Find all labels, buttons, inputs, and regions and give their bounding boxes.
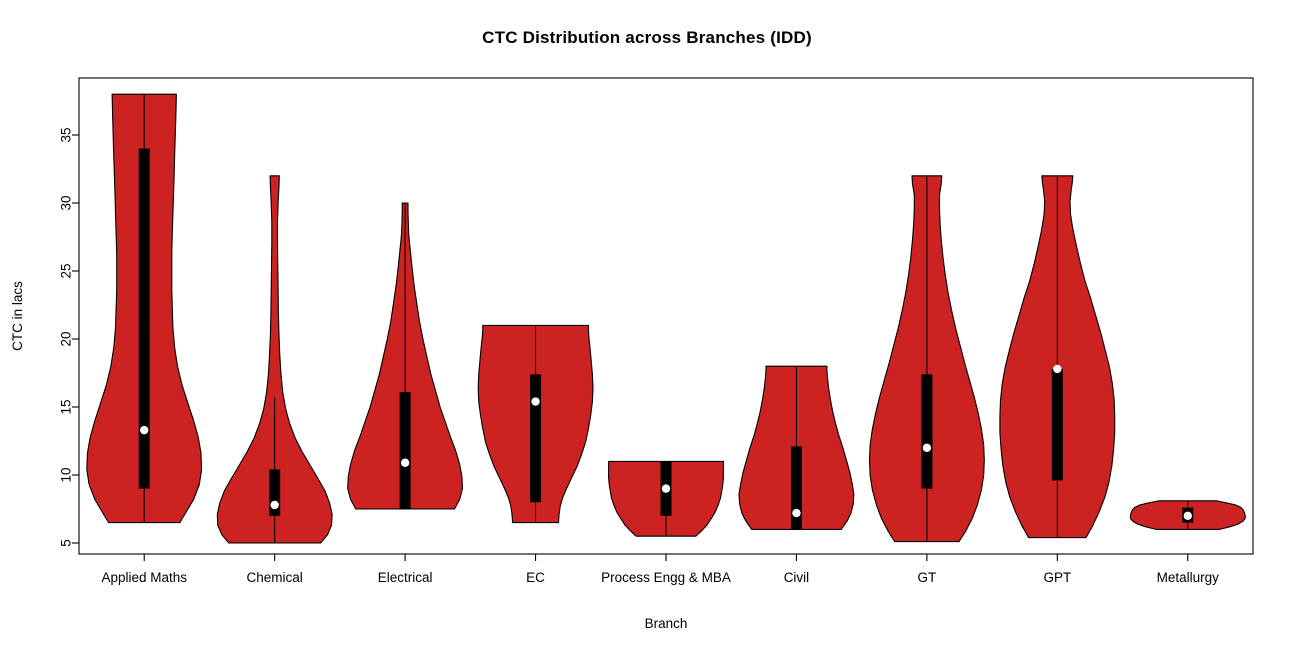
violin-applied-maths (87, 94, 202, 522)
y-tick-label: 35 (59, 127, 74, 142)
violin-civil (739, 366, 854, 529)
x-tick-label: Process Engg & MBA (601, 570, 731, 585)
y-axis-title: CTC in lacs (10, 281, 25, 351)
x-tick-label: EC (526, 570, 545, 585)
violin-gt (870, 176, 985, 542)
x-tick-label: Chemical (247, 570, 303, 585)
x-tick-label: Applied Maths (101, 570, 187, 585)
median-marker (531, 397, 539, 405)
median-marker (270, 501, 278, 509)
x-tick-label: Electrical (378, 570, 433, 585)
iqr-box (530, 374, 541, 502)
median-marker (401, 459, 409, 467)
iqr-box (400, 392, 411, 509)
median-marker (792, 509, 800, 517)
y-tick-label: 25 (59, 263, 74, 278)
iqr-box (139, 149, 150, 489)
y-tick-label: 20 (59, 331, 74, 346)
y-tick-label: 30 (59, 195, 74, 210)
x-tick-label: GT (918, 570, 937, 585)
x-axis-title: Branch (645, 616, 688, 631)
y-axis: 5101520253035 (59, 127, 80, 546)
median-marker (923, 444, 931, 452)
x-tick-label: Civil (784, 570, 810, 585)
violin-chart-figure: CTC Distribution across Branches (IDD) 5… (0, 0, 1294, 653)
y-tick-label: 15 (59, 399, 74, 414)
plot-canvas: 5101520253035 Applied MathsChemicalElect… (0, 0, 1294, 653)
violin-process-engg-mba (609, 461, 724, 536)
violin-electrical (348, 203, 463, 509)
violin-chemical (217, 176, 332, 543)
y-tick-label: 10 (59, 467, 74, 482)
median-marker (1184, 512, 1192, 520)
violin-metallurgy (1130, 501, 1245, 530)
violin-ec (478, 325, 593, 522)
x-tick-label: Metallurgy (1157, 570, 1220, 585)
median-marker (662, 484, 670, 492)
x-tick-label: GPT (1043, 570, 1071, 585)
x-axis: Applied MathsChemicalElectricalECProcess… (101, 554, 1219, 585)
iqr-box (1052, 369, 1063, 481)
violin-gpt (1000, 176, 1115, 538)
y-tick-label: 5 (59, 539, 74, 547)
violins-group (87, 94, 1245, 543)
median-marker (1053, 365, 1061, 373)
median-marker (140, 426, 148, 434)
iqr-box (921, 374, 932, 488)
